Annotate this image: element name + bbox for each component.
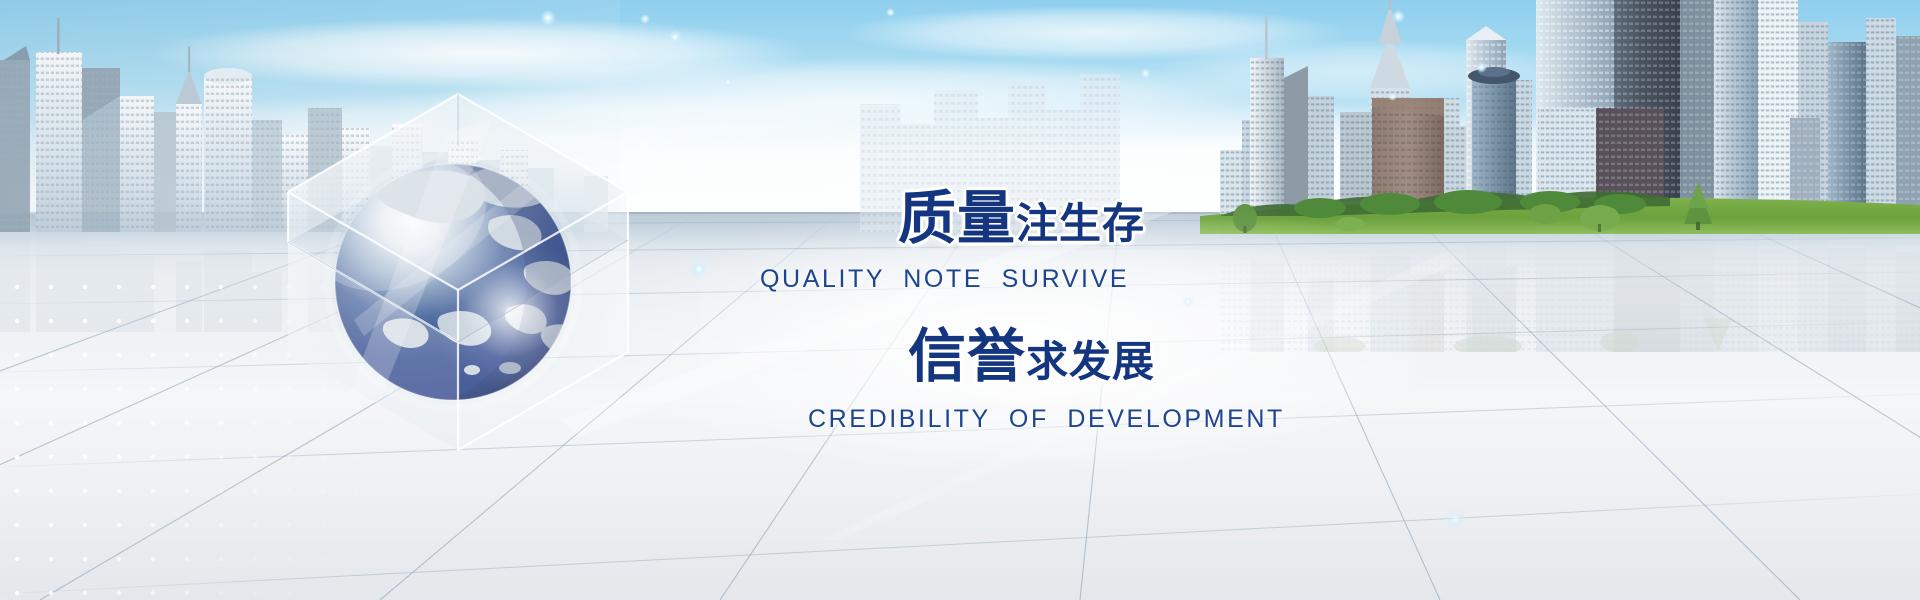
slogan-line-2-headline-lead: 信誉 [908,324,1026,389]
slogan-line-2-subtitle: CREDIBILITY OF DEVELOPMENT [808,405,1285,434]
slogan-line-1-headline-tail: 注生存 [1016,200,1145,247]
slogan-line-1-subtitle: QUALITY NOTE SURVIVE [760,265,1129,294]
slogan-line-2-headline-tail: 求发展 [1026,338,1155,385]
slogan-line-1-headline-lead: 质量 [898,186,1016,251]
glass-cube-with-globe [258,70,658,470]
slogan-line-2-headline: 信誉求发展 [908,328,1155,386]
city-skyline-right-reflection [1220,212,1920,352]
slogan-line-1-headline: 质量注生存 [898,190,1145,248]
banner-root: 质量注生存 QUALITY NOTE SURVIVE 信誉求发展 CREDIBI… [0,0,1920,600]
